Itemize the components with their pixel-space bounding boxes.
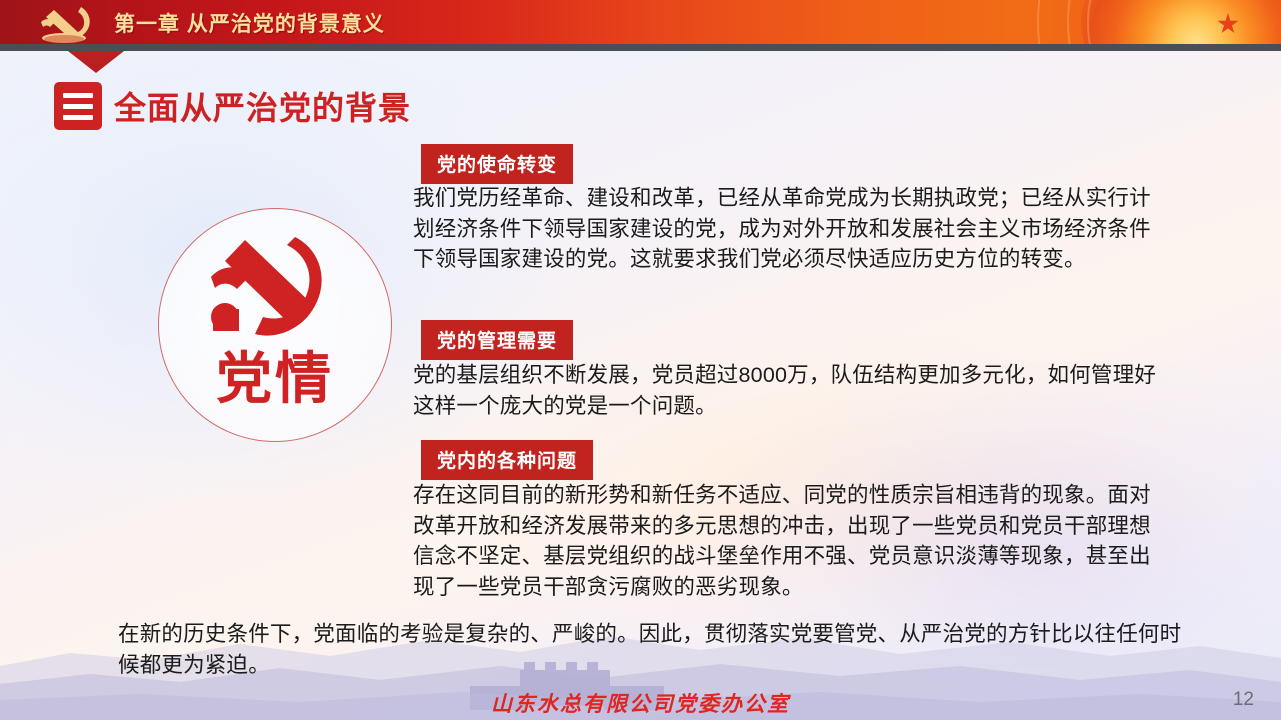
emblem-label: 党情 xyxy=(159,351,391,407)
block-badge-management: 党的管理需要 xyxy=(421,320,573,360)
block-badge-mission: 党的使命转变 xyxy=(421,144,573,184)
slide-header-bar: 第一章 从严治党的背景意义 xyxy=(0,0,1281,44)
footer-organization: 山东水总有限公司党委办公室 xyxy=(0,688,1281,718)
chapter-title: 第一章 从严治党的背景意义 xyxy=(114,8,385,38)
block-badge-problems: 党内的各种问题 xyxy=(421,440,593,480)
block-text-mission: 我们党历经革命、建设和改革，已经从革命党成为长期执政党；已经从实行计划经济条件下… xyxy=(413,183,1158,275)
section-title: 全面从严治党的背景 xyxy=(114,83,411,129)
hammer-sickle-emblem-icon xyxy=(33,3,103,43)
hammer-sickle-emblem-icon xyxy=(199,231,351,361)
block-text-problems: 存在这同目前的新形势和新任务不适应、同党的性质宗旨相违背的现象。面对改革开放和经… xyxy=(413,480,1158,602)
hamburger-list-icon xyxy=(54,82,102,130)
header-underbar xyxy=(0,44,1281,51)
page-number: 12 xyxy=(1233,689,1254,711)
chevron-down-icon xyxy=(68,51,124,73)
header-decor-ring-3 xyxy=(1037,0,1281,44)
hamburger-bar xyxy=(63,115,93,120)
presentation-slide: 第一章 从严治党的背景意义 全面从严治党的背景 党情 党的使命转变 我们党历经革… xyxy=(0,0,1281,720)
hamburger-bar xyxy=(63,93,93,98)
hamburger-bar xyxy=(63,104,93,109)
closing-paragraph: 在新的历史条件下，党面临的考验是复杂的、严峻的。因此，贯彻落实党要管党、从严治党… xyxy=(118,619,1183,680)
party-emblem-circle: 党情 xyxy=(158,208,392,442)
block-text-management: 党的基层组织不断发展，党员超过8000万，队伍结构更加多元化，如何管理好这样一个… xyxy=(413,360,1165,421)
